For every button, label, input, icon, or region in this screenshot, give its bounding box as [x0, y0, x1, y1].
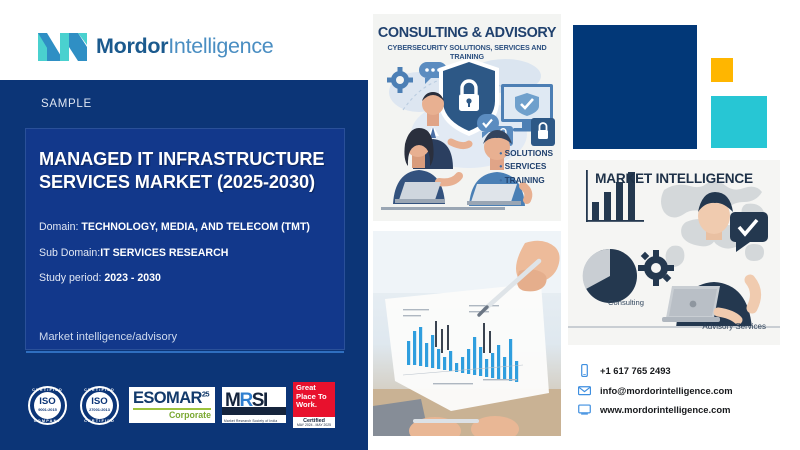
contact-phone-text: +1 617 765 2493	[600, 365, 671, 376]
meta-row-domain: Domain: TECHNOLOGY, MEDIA, AND TELECOM (…	[39, 222, 339, 234]
iso-27001-number: 27001:2013	[89, 408, 110, 412]
decorative-amber-square	[711, 58, 733, 82]
iso-27001-arc-bottom: CERTIFIED	[77, 419, 122, 423]
meta-value-domain: TECHNOLOGY, MEDIA, AND TELECOM (TMT)	[81, 221, 310, 233]
cyber-bullet-solutions: SOLUTIONS	[499, 147, 553, 160]
meta-value-study-period: 2023 - 2030	[104, 272, 161, 284]
brand-wordmark: MordorIntelligence	[96, 34, 273, 59]
cyber-card-subtitle: CYBERSECURITY SOLUTIONS, SERVICES AND TR…	[373, 43, 561, 61]
cyber-bullet-training: TRAINING	[499, 174, 553, 187]
cyber-bullet-services: SERVICES	[499, 160, 553, 173]
esomar-corporate-label: Corporate	[133, 411, 211, 420]
market-intelligence-card: MARKET INTELLIGENCE Consulting Advisory …	[568, 160, 780, 345]
cybersecurity-consulting-card: CONSULTING & ADVISORY CYBERSECURITY SOLU…	[373, 14, 561, 221]
report-meta-list: Domain: TECHNOLOGY, MEDIA, AND TELECOM (…	[39, 222, 339, 299]
decorative-navy-square	[573, 25, 697, 149]
iso-9001-core: ISO 9001:2015	[34, 392, 61, 419]
meta-row-study-period: Study period: 2023 - 2030	[39, 273, 339, 285]
iso-9001-badge: CERTIFIED ISO 9001:2015 COMPANY	[25, 383, 70, 428]
great-place-to-work-badge: Great Place To Work. Certified MAY 2024 …	[293, 382, 335, 428]
esomar-badge: ESOMAR25 Corporate	[129, 387, 215, 423]
meta-label-domain: Domain:	[39, 221, 78, 233]
logo-bar: MordorIntelligence	[0, 0, 368, 80]
contact-row-email[interactable]: info@mordorintelligence.com	[578, 384, 793, 397]
certification-badge-row: CERTIFIED ISO 9001:2015 COMPANY CERTIFIE…	[25, 381, 355, 429]
iso-27001-std: ISO	[91, 397, 108, 407]
meta-label-study-period: Study period:	[39, 272, 101, 284]
esomar-word: ESOMAR	[133, 389, 202, 407]
iso-9001-arc-bottom: COMPANY	[25, 419, 70, 423]
contact-website-text: www.mordorintelligence.com	[600, 404, 730, 415]
consulting-label: Consulting	[590, 298, 662, 307]
monitor-icon	[578, 403, 591, 416]
mordor-m-logo-icon	[38, 31, 87, 61]
iso-27001-badge: CERTIFIED ISO 27001:2013 CERTIFIED	[77, 383, 122, 428]
esomar-sup: 25	[202, 390, 209, 399]
contact-email-text: info@mordorintelligence.com	[600, 385, 733, 396]
page-title: MANAGED IT INFRASTRUCTURE SERVICES MARKE…	[39, 148, 339, 194]
brand-logo[interactable]: MordorIntelligence	[38, 31, 273, 61]
esomar-title: ESOMAR25	[133, 390, 211, 407]
mrsi-footnote: Market Research Society of India	[224, 419, 277, 423]
meta-row-sub-domain: Sub Domain:IT SERVICES RESEARCH	[39, 248, 339, 260]
report-cover-page: MordorIntelligence SAMPLE MANAGED IT INF…	[0, 0, 800, 450]
analyst-with-laptop-world-map-illustration	[568, 160, 780, 345]
iso-9001-number: 9001:2015	[38, 408, 57, 412]
meta-label-sub-domain: Sub Domain:	[39, 247, 100, 259]
cyber-card-bullet-list: SOLUTIONS SERVICES TRAINING	[499, 147, 553, 187]
contact-row-website[interactable]: www.mordorintelligence.com	[578, 403, 793, 416]
phone-icon	[578, 364, 591, 377]
gptw-certified-period: MAY 2024 - MAY 2025	[293, 424, 335, 428]
hand-pointing-at-bar-chart-photo	[373, 231, 561, 436]
advisory-services-label: Advisory Services	[702, 322, 766, 331]
envelope-icon	[578, 384, 591, 397]
card-underline-divider	[26, 351, 344, 353]
chart-photo-graphic	[373, 231, 561, 436]
meta-value-sub-domain: IT SERVICES RESEARCH	[100, 247, 228, 259]
decorative-cyan-square	[711, 96, 767, 148]
gptw-certified: Certified MAY 2024 - MAY 2025	[293, 417, 335, 428]
brand-name-bold: Mordor	[96, 34, 168, 58]
iso-9001-std: ISO	[39, 397, 56, 407]
gptw-lines: Great Place To Work.	[293, 382, 335, 417]
advisory-type-label: Market intelligence/advisory	[39, 331, 177, 343]
contact-row-phone[interactable]: +1 617 765 2493	[578, 364, 793, 377]
mrsi-badge: MRSI Market Research Society of India	[222, 387, 286, 423]
sample-label: SAMPLE	[41, 98, 92, 110]
iso-27001-core: ISO 27001:2013	[86, 392, 113, 419]
cyber-card-title: CONSULTING & ADVISORY	[373, 25, 561, 41]
market-intelligence-title: MARKET INTELLIGENCE	[568, 171, 780, 186]
contact-block: +1 617 765 2493 info@mordorintelligence.…	[578, 364, 793, 423]
brand-name-light: Intelligence	[168, 34, 273, 58]
mrsi-bar	[222, 407, 286, 415]
